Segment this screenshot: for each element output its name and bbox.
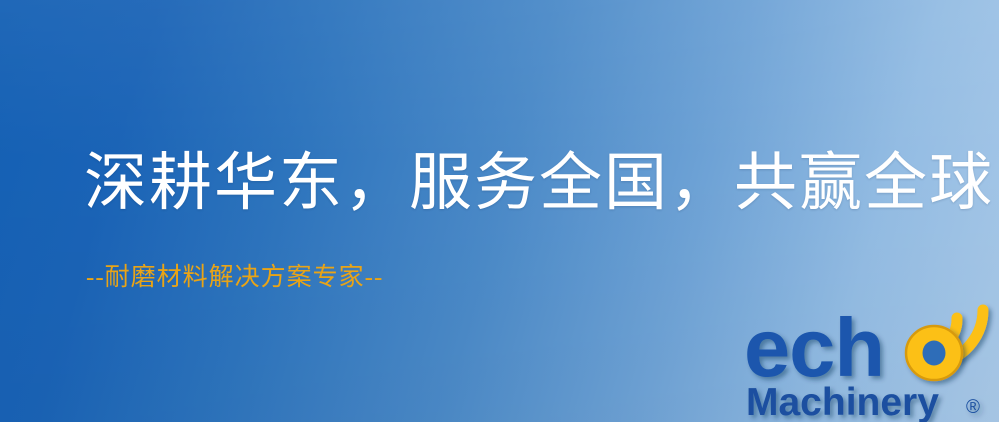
logo-artwork: ech Machinery ® <box>744 296 996 422</box>
promo-banner: 深耕华东，服务全国，共赢全球 --耐磨材料解决方案专家-- ech <box>0 0 999 422</box>
banner-subtitle: --耐磨材料解决方案专家-- <box>86 265 383 290</box>
registered-trademark-icon: ® <box>966 397 980 418</box>
svg-text:Machinery: Machinery <box>746 381 939 422</box>
logo-tagline-machinery: Machinery ® <box>746 381 980 422</box>
echo-machinery-logo: ech Machinery ® <box>744 296 996 422</box>
banner-headline: 深耕华东，服务全国，共赢全球 <box>84 152 994 215</box>
